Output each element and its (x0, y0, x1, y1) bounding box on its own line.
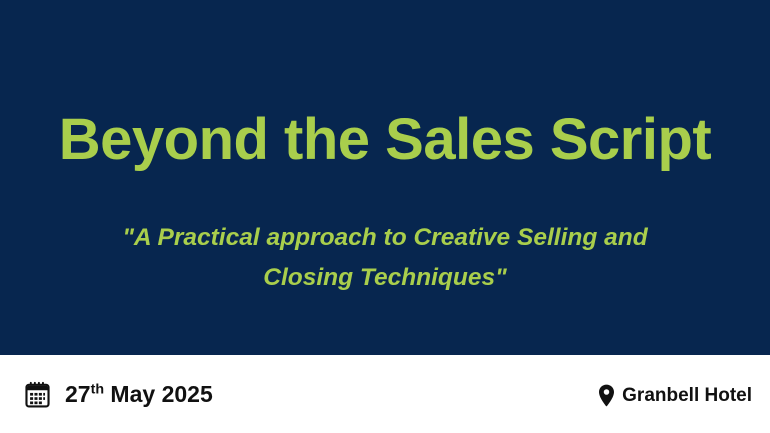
event-venue: Granbell Hotel (597, 384, 752, 407)
location-pin-icon (597, 384, 616, 407)
subtitle-line-2: Closing Techniques" (263, 264, 506, 291)
event-date-month-year: May 2025 (104, 381, 213, 407)
hero-panel: Beyond the Sales Script "A Practical app… (0, 0, 770, 355)
subtitle-line-1: "A Practical approach to Creative Sellin… (122, 224, 647, 251)
event-venue-label: Granbell Hotel (622, 385, 752, 407)
footer-bar: 27th May 2025 Granbell Hotel (0, 355, 770, 433)
title-slide: Beyond the Sales Script "A Practical app… (0, 0, 770, 433)
page-title: Beyond the Sales Script (0, 108, 770, 172)
event-date-day: 27 (65, 381, 91, 407)
calendar-icon (24, 381, 51, 408)
event-date-ordinal: th (91, 381, 104, 397)
page-subtitle: "A Practical approach to Creative Sellin… (60, 218, 710, 298)
event-date: 27th May 2025 (24, 381, 213, 408)
event-date-label: 27th May 2025 (65, 381, 213, 408)
